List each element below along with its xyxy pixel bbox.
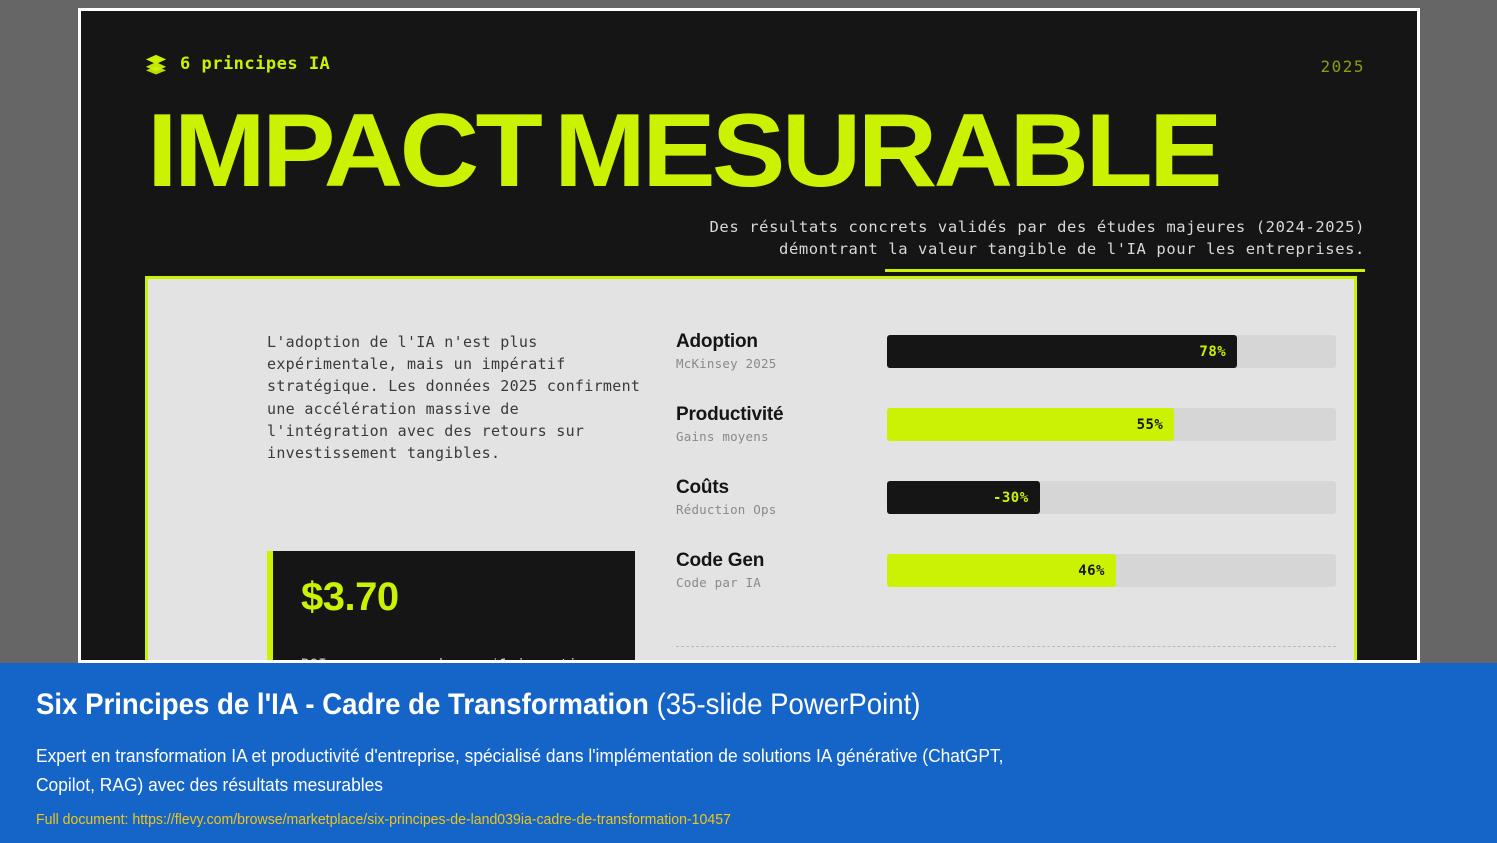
slide-canvas: 6 principes IA 2025 IMPACTMESURABLE Des … — [81, 11, 1417, 660]
metric-label: Code Gen Code par IA — [676, 550, 876, 590]
metric-name: Productivité — [676, 404, 876, 426]
metric-row: Adoption McKinsey 2025 78% — [676, 331, 1336, 404]
banner-title-strong: Six Principes de l'IA - Cadre de Transfo… — [36, 688, 649, 721]
flevy-banner: Six Principes de l'IA - Cadre de Transfo… — [0, 663, 1497, 843]
content-panel: L'adoption de l'IA n'est plus expériment… — [145, 276, 1357, 660]
subtitle-rule — [885, 269, 1365, 272]
metric-label: Adoption McKinsey 2025 — [676, 331, 876, 371]
bar-track: 78% — [887, 335, 1336, 368]
metric-label: Productivité Gains moyens — [676, 404, 876, 444]
bar-fill: 55% — [887, 408, 1174, 441]
stack-icon — [145, 53, 167, 75]
metrics-chart: Adoption McKinsey 2025 78% Pr — [676, 331, 1336, 623]
bar-track: 46% — [887, 554, 1336, 587]
metric-name: Code Gen — [676, 550, 876, 572]
banner-description: Expert en transformation IA et productiv… — [36, 742, 1032, 799]
slide-subtitle: Des résultats concrets validés par des é… — [665, 216, 1365, 272]
metric-label: Coûts Réduction Ops — [676, 477, 876, 517]
banner-title-light: (35-slide PowerPoint) — [657, 688, 921, 721]
subtitle-line-1: Des résultats concrets validés par des é… — [665, 216, 1365, 238]
title-word-1: IMPACT — [147, 93, 539, 209]
bar-value: 46% — [1078, 563, 1105, 579]
roi-card: $3.70 ROI moyen pour chaque $1 investi — [267, 551, 635, 660]
roi-caption: ROI moyen pour chaque $1 investi — [301, 657, 577, 660]
sources-divider — [676, 646, 1336, 647]
banner-document-link[interactable]: Full document: https://flevy.com/browse/… — [36, 811, 731, 828]
bar-value: 78% — [1199, 344, 1226, 360]
content-panel-inner: L'adoption de l'IA n'est plus expériment… — [148, 279, 1354, 660]
metric-row: Code Gen Code par IA 46% — [676, 550, 1336, 623]
metric-sublabel: Code par IA — [676, 575, 876, 590]
bar-value: -30% — [993, 490, 1029, 506]
bar-fill: -30% — [887, 481, 1040, 514]
title-word-2: MESURABLE — [554, 93, 1219, 209]
slide-frame: 6 principes IA 2025 IMPACTMESURABLE Des … — [78, 8, 1420, 663]
metric-name: Adoption — [676, 331, 876, 353]
page-root: 6 principes IA 2025 IMPACTMESURABLE Des … — [0, 0, 1497, 843]
metric-row: Coûts Réduction Ops -30% — [676, 477, 1336, 550]
bar-value: 55% — [1137, 417, 1164, 433]
bar-track: -30% — [887, 481, 1336, 514]
metric-row: Productivité Gains moyens 55% — [676, 404, 1336, 477]
eyebrow-label: 6 principes IA — [180, 54, 330, 74]
page-title: IMPACTMESURABLE — [147, 99, 1219, 203]
banner-title: Six Principes de l'IA - Cadre de Transfo… — [36, 688, 920, 722]
lead-paragraph: L'adoption de l'IA n'est plus expériment… — [267, 331, 641, 464]
metric-name: Coûts — [676, 477, 876, 499]
bar-fill: 46% — [887, 554, 1116, 587]
metric-sublabel: Gains moyens — [676, 429, 876, 444]
slide-eyebrow: 6 principes IA — [145, 53, 330, 75]
roi-value: $3.70 — [301, 577, 635, 617]
metric-sublabel: McKinsey 2025 — [676, 356, 876, 371]
subtitle-line-2: démontrant la valeur tangible de l'IA po… — [665, 238, 1365, 260]
bar-track: 55% — [887, 408, 1336, 441]
metric-sublabel: Réduction Ops — [676, 502, 876, 517]
bar-fill: 78% — [887, 335, 1237, 368]
slide-year: 2025 — [1320, 57, 1365, 76]
